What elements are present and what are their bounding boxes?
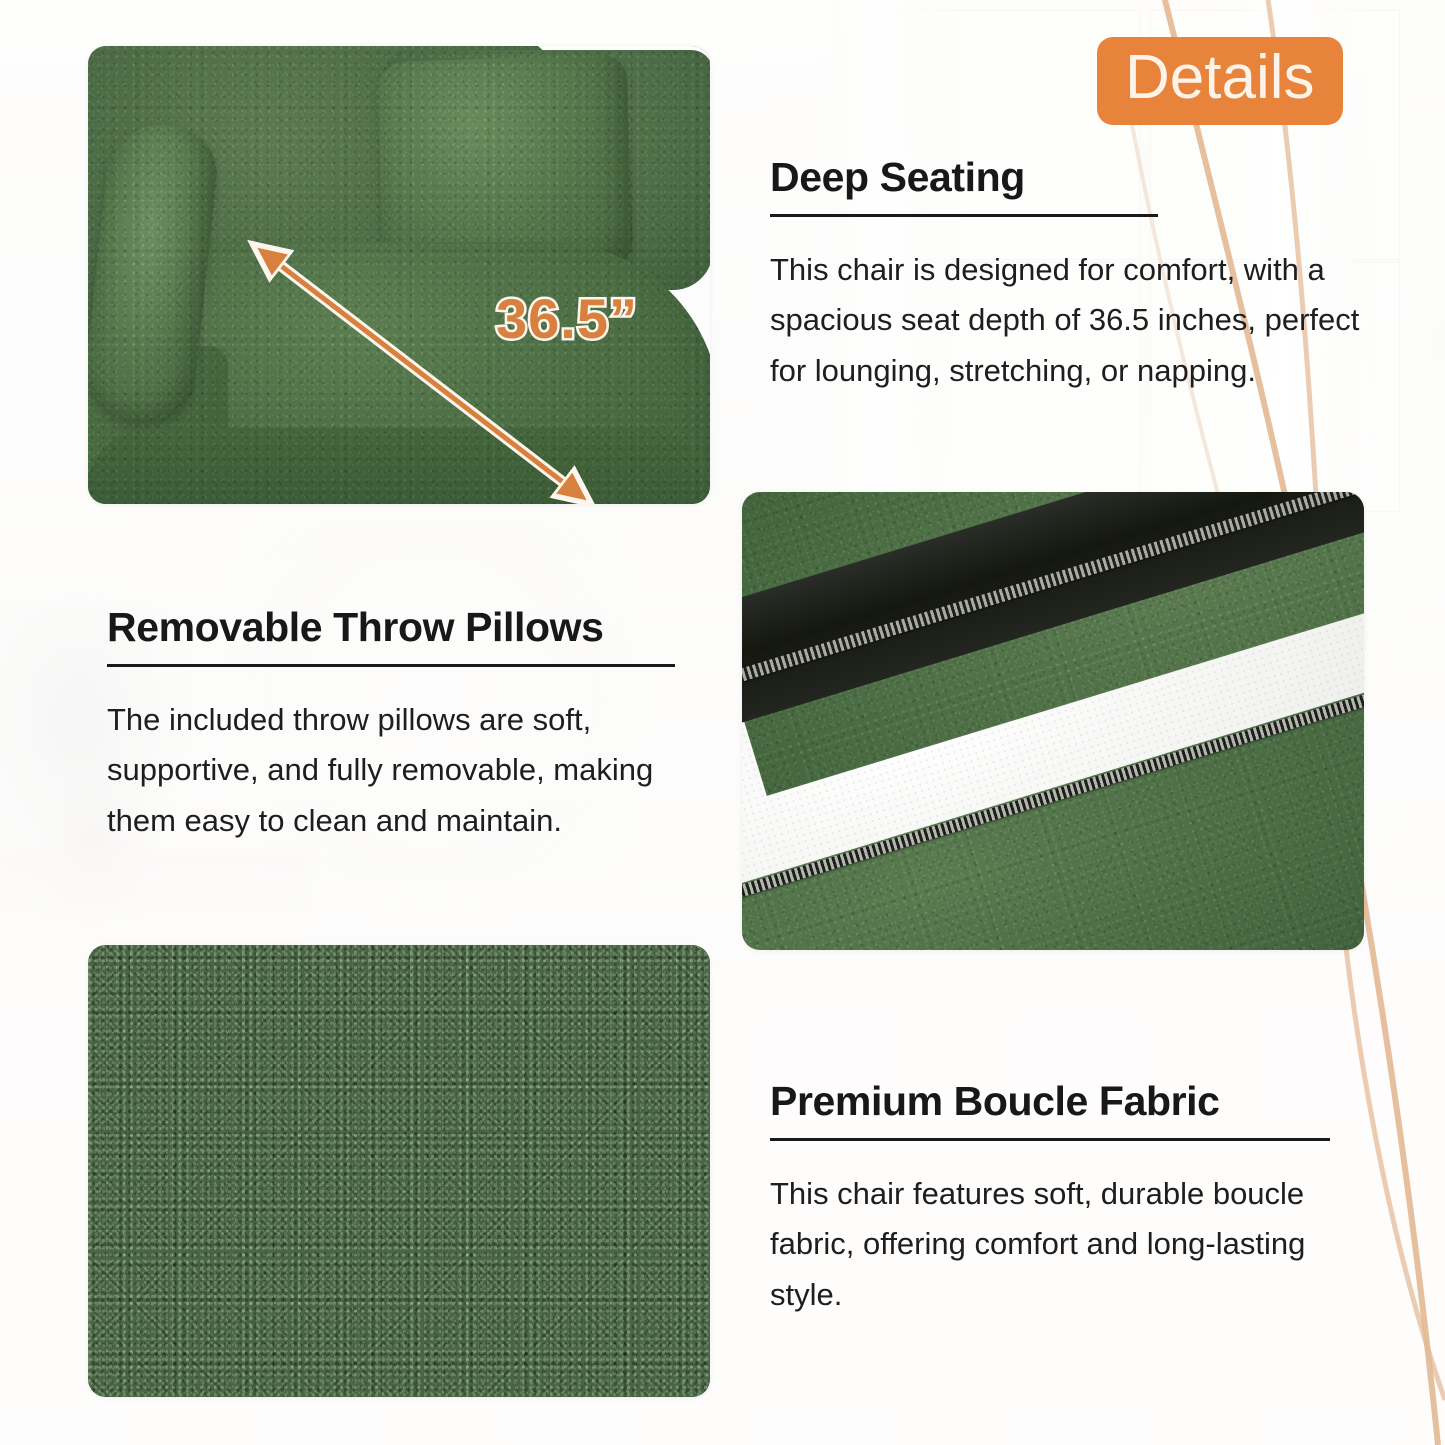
section-heading: Premium Boucle Fabric [770, 1079, 1370, 1124]
cushion-zipper-closeup-photo [742, 492, 1364, 950]
section-body: This chair is designed for comfort, with… [770, 245, 1366, 396]
chair-seat-depth-photo: 36.5” [88, 46, 710, 504]
zipper-photo-scene [742, 492, 1364, 950]
fabric-swatch-surface [88, 945, 710, 1397]
section-body: This chair features soft, durable boucle… [770, 1169, 1315, 1320]
chair-photo-scene: 36.5” [88, 46, 710, 504]
details-infographic-page: 36.5” Details Deep Seating This chair is… [0, 0, 1445, 1445]
section-premium-boucle-fabric: Premium Boucle Fabric This chair feature… [770, 1079, 1370, 1320]
heading-underline [107, 664, 675, 667]
details-badge: Details [1097, 37, 1343, 125]
section-heading: Removable Throw Pillows [107, 605, 707, 650]
section-heading: Deep Seating [770, 155, 1370, 200]
seat-depth-dimension-label: 36.5” [496, 286, 638, 351]
boucle-fabric-swatch-photo [88, 945, 710, 1397]
dimension-arrow-icon [88, 46, 710, 504]
section-removable-throw-pillows: Removable Throw Pillows The included thr… [107, 605, 707, 846]
heading-underline [770, 1138, 1330, 1141]
heading-underline [770, 214, 1158, 217]
section-body: The included throw pillows are soft, sup… [107, 695, 667, 846]
section-deep-seating: Deep Seating This chair is designed for … [770, 155, 1370, 396]
